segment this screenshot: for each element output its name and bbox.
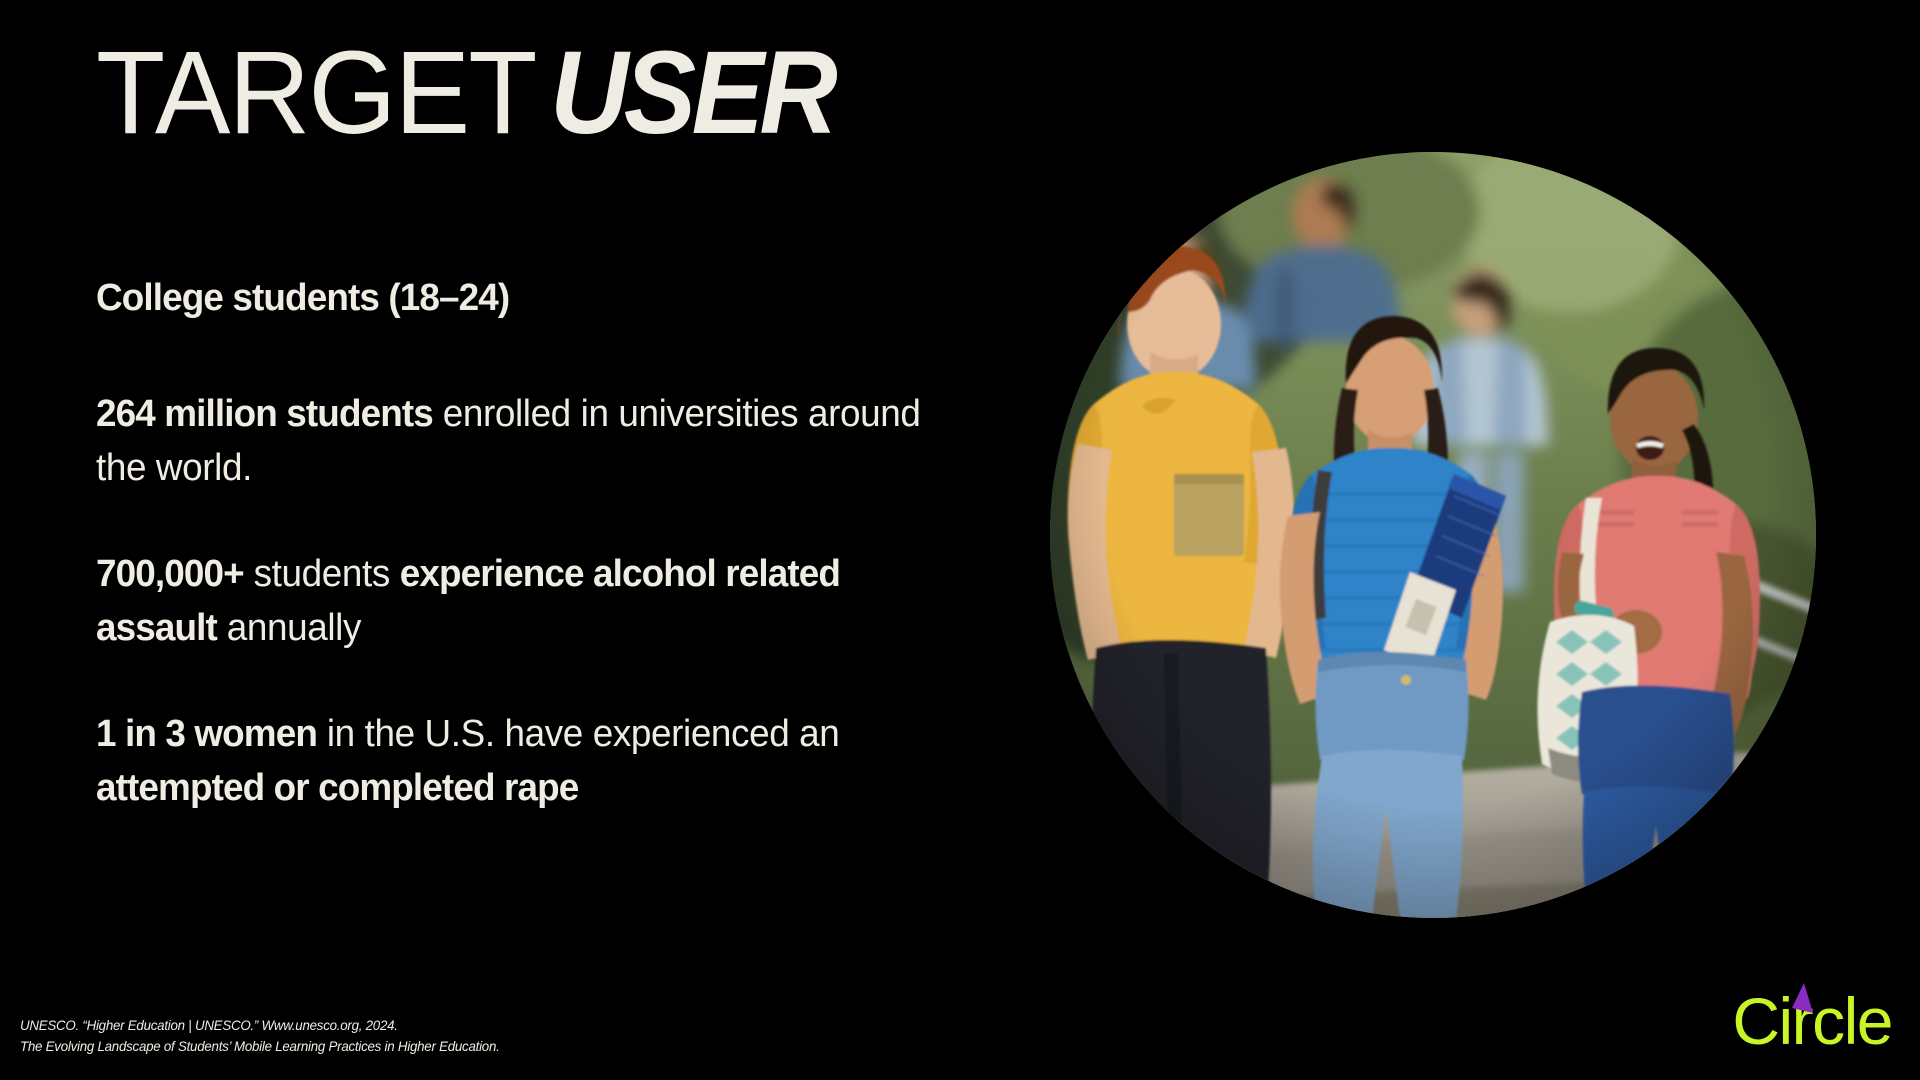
footnote-source-1: UNESCO. “Higher Education | UNESCO.” Www… xyxy=(20,1015,500,1037)
stat-emphasis-rape: attempted or completed rape xyxy=(96,767,578,809)
slide-root: TARGET USER College students (18–24) 264… xyxy=(0,0,1920,1080)
stat-text-rape: in the U.S. have experienced an xyxy=(317,713,839,755)
stat-paragraph-assault: 700,000+ students experience alcohol rel… xyxy=(96,548,950,656)
stat-value-assault: 700,000+ xyxy=(96,553,244,595)
body-content: College students (18–24) 264 million stu… xyxy=(96,272,976,816)
footnote-source-2: The Evolving Landscape of Students’ Mobi… xyxy=(20,1036,500,1058)
students-photo xyxy=(1050,152,1816,918)
page-title-main: TARGET xyxy=(96,34,536,152)
stat-value-rape: 1 in 3 women xyxy=(96,713,317,755)
page-title-accent: USER xyxy=(550,34,833,152)
stat-paragraph-rape: 1 in 3 women in the U.S. have experience… xyxy=(96,708,950,816)
students-photo-illustration xyxy=(1050,152,1816,918)
stat-text-assault-b: annually xyxy=(217,607,361,649)
purple-triangle-mark-icon xyxy=(1789,982,1815,1016)
page-title: TARGET USER xyxy=(96,34,858,152)
stat-text-assault-a: students xyxy=(244,553,400,595)
circle-logo: Circle xyxy=(1732,980,1892,1054)
audience-heading-text: College students (18–24) xyxy=(96,277,509,319)
stat-value-enrollment: 264 million students xyxy=(96,393,433,435)
stat-paragraph-enrollment: 264 million students enrolled in univers… xyxy=(96,388,950,496)
footnotes: UNESCO. “Higher Education | UNESCO.” Www… xyxy=(20,1015,525,1058)
audience-heading: College students (18–24) xyxy=(96,272,950,326)
